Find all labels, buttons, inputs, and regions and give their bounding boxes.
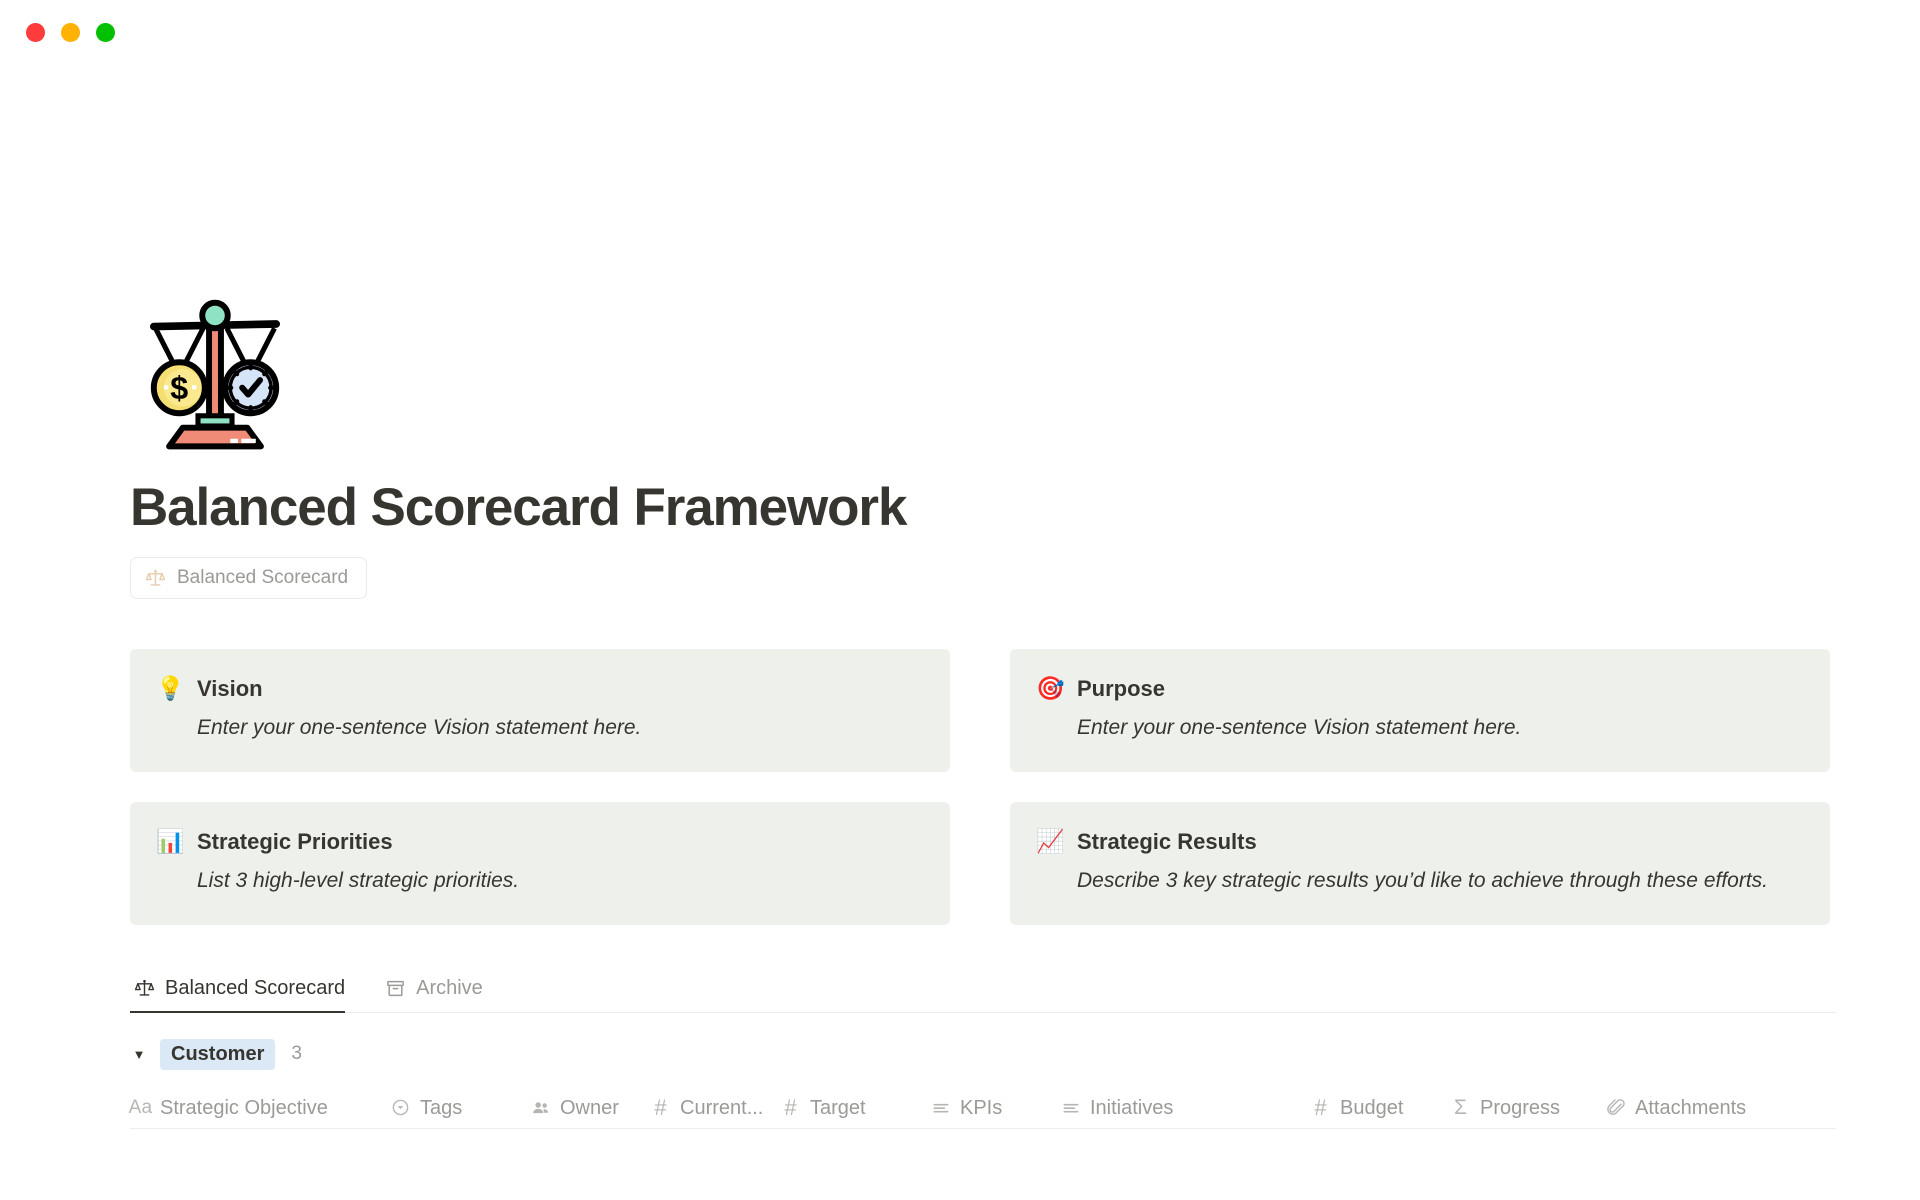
chevron-down-icon[interactable]: ▼ xyxy=(130,1045,148,1063)
callout-body[interactable]: List 3 high-level strategic priorities. xyxy=(156,865,922,898)
callout-title: Purpose xyxy=(1077,675,1165,702)
paperclip-icon xyxy=(1605,1097,1626,1118)
callout-header: 📊 Strategic Priorities xyxy=(156,828,922,855)
column-label: Current... xyxy=(680,1098,763,1118)
tab-balanced-scorecard[interactable]: Balanced Scorecard xyxy=(130,971,359,1012)
dart-icon: 🎯 xyxy=(1036,675,1063,701)
text-lines-icon xyxy=(930,1097,951,1118)
group-header-customer[interactable]: ▼ Customer 3 xyxy=(130,1039,1836,1069)
table-column-headers: Aa Strategic Objective Tags xyxy=(130,1087,1836,1129)
column-attachments[interactable]: Attachments xyxy=(1605,1097,1805,1118)
callout-grid: 💡 Vision Enter your one-sentence Vision … xyxy=(130,649,1836,925)
callout-header: 🎯 Purpose xyxy=(1036,675,1802,702)
callout-body[interactable]: Describe 3 key strategic results you’d l… xyxy=(1036,865,1802,898)
column-initiatives[interactable]: Initiatives xyxy=(1060,1097,1310,1118)
people-icon xyxy=(530,1097,551,1118)
column-strategic-objective[interactable]: Aa Strategic Objective xyxy=(130,1097,390,1118)
number-hash-icon: # xyxy=(650,1097,671,1118)
column-owner[interactable]: Owner xyxy=(530,1097,650,1118)
select-circle-icon xyxy=(390,1097,411,1118)
column-target[interactable]: # Target xyxy=(780,1097,930,1118)
text-aa-icon: Aa xyxy=(130,1097,151,1118)
minimize-button[interactable] xyxy=(61,23,80,42)
column-label: Strategic Objective xyxy=(160,1098,328,1118)
callout-body[interactable]: Enter your one-sentence Vision statement… xyxy=(1036,712,1802,745)
number-hash-icon: # xyxy=(780,1097,801,1118)
bar-chart-icon: 📊 xyxy=(156,828,183,854)
text-lines-icon xyxy=(1060,1097,1081,1118)
column-label: Attachments xyxy=(1635,1098,1746,1118)
callout-title: Vision xyxy=(197,675,263,702)
column-label: Progress xyxy=(1480,1098,1560,1118)
window-title-bar xyxy=(0,0,1920,64)
callout-title: Strategic Results xyxy=(1077,828,1257,855)
callout-strategic-results[interactable]: 📈 Strategic Results Describe 3 key strat… xyxy=(1010,802,1830,925)
callout-body[interactable]: Enter your one-sentence Vision statement… xyxy=(156,712,922,745)
page-canvas: $ Balanced Scorec xyxy=(0,64,1920,1200)
breadcrumb[interactable]: Balanced Scorecard xyxy=(130,557,367,599)
sigma-rollup-icon: Σ xyxy=(1450,1097,1471,1118)
column-current[interactable]: # Current... xyxy=(650,1097,780,1118)
column-progress[interactable]: Σ Progress xyxy=(1450,1097,1605,1118)
page-content: $ Balanced Scorec xyxy=(0,290,1920,1129)
column-label: Initiatives xyxy=(1090,1098,1173,1118)
balance-scale-icon xyxy=(145,568,166,589)
group-count: 3 xyxy=(291,1043,302,1065)
callout-vision[interactable]: 💡 Vision Enter your one-sentence Vision … xyxy=(130,649,950,772)
page-title[interactable]: Balanced Scorecard Framework xyxy=(130,478,1836,537)
close-button[interactable] xyxy=(26,23,45,42)
maximize-button[interactable] xyxy=(96,23,115,42)
group-name-badge[interactable]: Customer xyxy=(160,1039,275,1070)
traffic-light-controls xyxy=(26,23,115,42)
light-bulb-icon: 💡 xyxy=(156,675,183,701)
balance-scale-icon[interactable]: $ xyxy=(130,290,300,460)
number-hash-icon: # xyxy=(1310,1097,1331,1118)
column-tags[interactable]: Tags xyxy=(390,1097,530,1118)
column-label: Target xyxy=(810,1098,866,1118)
column-kpis[interactable]: KPIs xyxy=(930,1097,1060,1118)
callout-strategic-priorities[interactable]: 📊 Strategic Priorities List 3 high-level… xyxy=(130,802,950,925)
column-budget[interactable]: # Budget xyxy=(1310,1097,1450,1118)
balance-scale-icon xyxy=(134,978,155,999)
callout-purpose[interactable]: 🎯 Purpose Enter your one-sentence Vision… xyxy=(1010,649,1830,772)
tab-label: Archive xyxy=(416,977,483,1000)
chart-increasing-icon: 📈 xyxy=(1036,828,1063,854)
svg-text:$: $ xyxy=(170,370,188,406)
callout-title: Strategic Priorities xyxy=(197,828,393,855)
callout-header: 💡 Vision xyxy=(156,675,922,702)
database-view-tabs: Balanced Scorecard Archive xyxy=(130,971,1836,1013)
tab-archive[interactable]: Archive xyxy=(381,971,497,1012)
tab-label: Balanced Scorecard xyxy=(165,977,345,1000)
column-label: Tags xyxy=(420,1098,462,1118)
callout-header: 📈 Strategic Results xyxy=(1036,828,1802,855)
archive-box-icon xyxy=(385,978,406,999)
breadcrumb-label: Balanced Scorecard xyxy=(177,567,348,589)
column-label: Budget xyxy=(1340,1098,1403,1118)
column-label: Owner xyxy=(560,1098,619,1118)
column-label: KPIs xyxy=(960,1098,1002,1118)
